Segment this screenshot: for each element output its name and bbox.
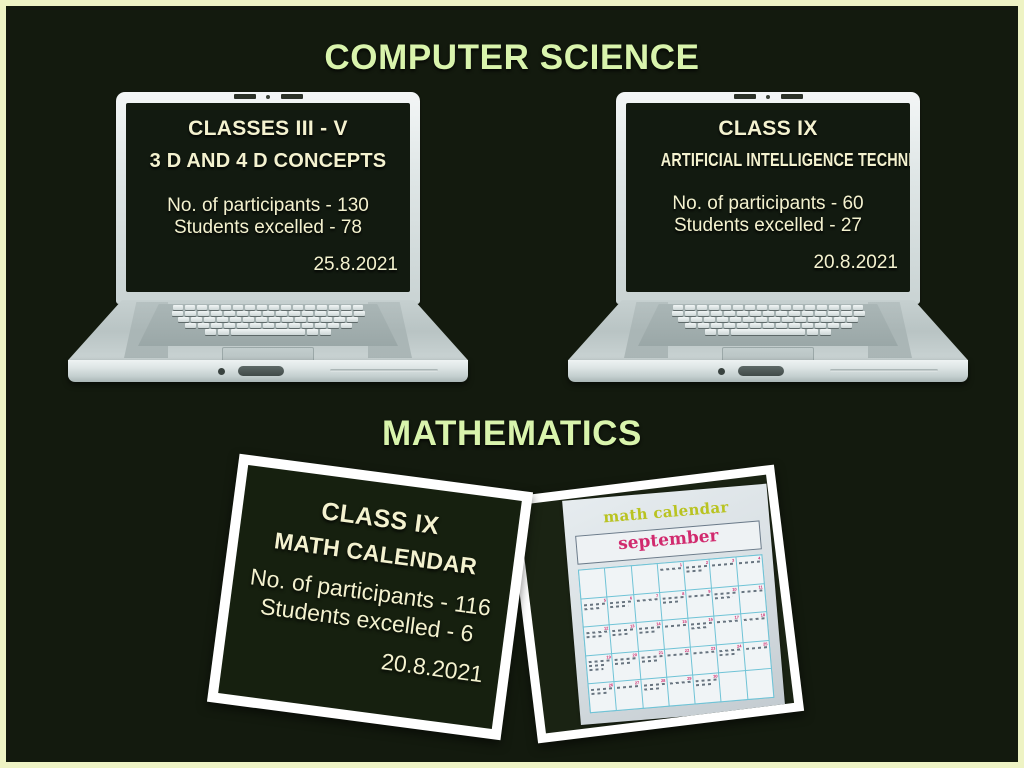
laptop-keyboard — [138, 304, 398, 346]
key — [263, 323, 274, 328]
key — [711, 323, 722, 328]
key — [737, 311, 748, 316]
screen-class-label: CLASS IX — [634, 117, 902, 141]
key — [730, 317, 741, 322]
key — [745, 305, 755, 310]
laptop-base — [68, 300, 468, 392]
key — [789, 323, 800, 328]
screen-participants-count: No. of participants - 130 — [134, 195, 402, 217]
calendar-cell: 25 — [743, 640, 770, 670]
key — [329, 305, 339, 310]
key — [721, 305, 731, 310]
key — [282, 317, 293, 322]
key — [307, 329, 318, 335]
key — [685, 305, 695, 310]
key — [328, 323, 339, 328]
key — [209, 305, 219, 310]
key — [320, 329, 331, 335]
calendar-cell — [719, 671, 746, 701]
keyboard-row — [638, 329, 898, 335]
keyboard-row — [138, 329, 398, 335]
key — [334, 317, 345, 322]
key — [276, 323, 287, 328]
infrared-port-icon — [718, 368, 725, 375]
laptop-front-edge — [568, 360, 968, 382]
key — [717, 317, 728, 322]
key — [315, 311, 326, 316]
key — [257, 305, 267, 310]
key — [173, 305, 183, 310]
laptop-lid: CLASSES III - V 3 D AND 4 D CONCEPTS No.… — [116, 92, 420, 304]
keyboard-row — [138, 311, 398, 316]
key — [217, 317, 228, 322]
spacebar-key — [231, 329, 305, 335]
key — [793, 305, 803, 310]
calendar-cell: 24 — [717, 643, 744, 673]
key — [697, 305, 707, 310]
key — [847, 317, 858, 322]
key — [854, 311, 865, 316]
laptop-screen: CLASSES III - V 3 D AND 4 D CONCEPTS No.… — [126, 103, 410, 292]
key — [769, 317, 780, 322]
keyboard-row — [138, 323, 398, 328]
calendar-grid: 1 2 3 4 5 6 7 8 9 10 11 12 13 14 15 16 — [578, 554, 774, 713]
key — [198, 311, 209, 316]
calendar-cell — [605, 566, 632, 596]
optical-drive-slot — [330, 369, 438, 372]
screen-topic-label: 3 D AND 4 D CONCEPTS — [134, 150, 402, 173]
lid-notch-right-icon — [281, 94, 303, 99]
key — [263, 311, 274, 316]
key — [841, 323, 852, 328]
key — [743, 317, 754, 322]
lid-latch-icon — [238, 366, 284, 376]
key — [178, 317, 189, 322]
calendar-cell: 27 — [615, 680, 642, 710]
key — [295, 317, 306, 322]
keyboard-row — [638, 323, 898, 328]
calendar-sheet: math calendar september 1 2 3 4 5 6 7 8 … — [562, 483, 785, 725]
key — [328, 311, 339, 316]
screen-date: 20.8.2021 — [634, 252, 902, 274]
key — [763, 311, 774, 316]
calendar-cell: 8 — [660, 590, 687, 620]
key — [243, 317, 254, 322]
calendar-cell — [631, 564, 658, 594]
calendar-cell: 30 — [693, 673, 720, 703]
key — [293, 305, 303, 310]
key — [256, 317, 267, 322]
key — [269, 305, 279, 310]
key — [233, 305, 243, 310]
key — [341, 323, 352, 328]
calendar-cell: 11 — [738, 583, 765, 613]
key — [815, 311, 826, 316]
card-inner: CLASS IX MATH CALENDAR No. of participan… — [218, 465, 522, 729]
key — [757, 305, 767, 310]
laptop-keyboard — [638, 304, 898, 346]
key — [672, 311, 683, 316]
infrared-port-icon — [218, 368, 225, 375]
key — [678, 317, 689, 322]
calendar-cell: 7 — [634, 592, 661, 622]
keyboard-row — [138, 317, 398, 322]
key — [269, 317, 280, 322]
calendar-cell — [579, 568, 606, 598]
key — [820, 329, 831, 335]
calendar-cell: 5 — [582, 597, 609, 627]
keyboard-row — [638, 305, 898, 310]
lid-notch-right-icon — [781, 94, 803, 99]
key — [763, 323, 774, 328]
key — [204, 317, 215, 322]
key — [705, 329, 716, 335]
calendar-cell: 19 — [586, 654, 613, 684]
key — [289, 311, 300, 316]
key — [685, 311, 696, 316]
key — [709, 305, 719, 310]
key — [191, 317, 202, 322]
key — [733, 305, 743, 310]
key — [782, 317, 793, 322]
key — [817, 305, 827, 310]
screen-participants-count: No. of participants - 60 — [634, 193, 902, 215]
key — [724, 311, 735, 316]
key — [305, 305, 315, 310]
key — [724, 323, 735, 328]
calendar-cell: 12 — [584, 625, 611, 655]
presentation-slide: COMPUTER SCIENCE CLASSES III - V 3 D AND… — [0, 0, 1024, 768]
calendar-cell: 1 — [658, 561, 685, 591]
key — [802, 323, 813, 328]
key — [211, 323, 222, 328]
screen-class-label: CLASSES III - V — [134, 117, 402, 141]
key — [805, 305, 815, 310]
calendar-cell: 3 — [710, 557, 737, 587]
key — [185, 323, 196, 328]
key — [218, 329, 229, 335]
key — [776, 323, 787, 328]
calendar-cell: 20 — [613, 651, 640, 681]
keyboard-row — [638, 311, 898, 316]
key — [841, 311, 852, 316]
key — [795, 317, 806, 322]
laptop-computer-science-2: CLASS IX ARTIFICIAL INTELLIGENCE TECHNIQ… — [568, 92, 968, 392]
calendar-cell: 4 — [736, 555, 763, 585]
screen-date: 25.8.2021 — [134, 254, 402, 276]
section-title-mathematics: MATHEMATICS — [6, 414, 1018, 454]
key — [321, 317, 332, 322]
photo-inner: math calendar september 1 2 3 4 5 6 7 8 … — [518, 475, 794, 734]
key — [698, 323, 709, 328]
calendar-cell: 9 — [686, 588, 713, 618]
key — [341, 305, 351, 310]
key — [317, 305, 327, 310]
laptop-front-edge — [68, 360, 468, 382]
key — [829, 305, 839, 310]
key — [841, 305, 851, 310]
key — [673, 305, 683, 310]
key — [828, 323, 839, 328]
key — [172, 311, 183, 316]
key — [781, 305, 791, 310]
key — [750, 323, 761, 328]
key — [185, 311, 196, 316]
section-title-computer-science: COMPUTER SCIENCE — [6, 38, 1018, 78]
key — [230, 317, 241, 322]
calendar-cell: 17 — [715, 614, 742, 644]
key — [353, 305, 363, 310]
key — [347, 317, 358, 322]
calendar-cell: 28 — [641, 678, 668, 708]
key — [250, 323, 261, 328]
key — [769, 305, 779, 310]
calendar-cell: 2 — [684, 559, 711, 589]
key — [828, 311, 839, 316]
laptop-lid: CLASS IX ARTIFICIAL INTELLIGENCE TECHNIQ… — [616, 92, 920, 304]
key — [750, 311, 761, 316]
calendar-cell: 26 — [589, 682, 616, 712]
key — [756, 317, 767, 322]
key — [789, 311, 800, 316]
screen-excelled-count: Students excelled - 78 — [134, 217, 402, 239]
key — [224, 323, 235, 328]
key — [302, 311, 313, 316]
key — [711, 311, 722, 316]
key — [281, 305, 291, 310]
key — [776, 311, 787, 316]
key — [821, 317, 832, 322]
key — [685, 323, 696, 328]
key — [315, 323, 326, 328]
key — [221, 305, 231, 310]
key — [691, 317, 702, 322]
key — [802, 311, 813, 316]
key — [197, 305, 207, 310]
lid-notch-left-icon — [234, 94, 256, 99]
key — [853, 305, 863, 310]
key — [834, 317, 845, 322]
key — [815, 323, 826, 328]
laptop-base — [568, 300, 968, 392]
key — [341, 311, 352, 316]
calendar-cell: 6 — [608, 594, 635, 624]
key — [198, 323, 209, 328]
calendar-cell: 22 — [665, 647, 692, 677]
calendar-cell: 29 — [667, 676, 694, 706]
key — [704, 317, 715, 322]
key — [808, 317, 819, 322]
key — [807, 329, 818, 335]
spacebar-key — [731, 329, 805, 335]
key — [308, 317, 319, 322]
calendar-cell: 14 — [636, 621, 663, 651]
key — [237, 323, 248, 328]
key — [737, 323, 748, 328]
math-calendar-info-card: CLASS IX MATH CALENDAR No. of participan… — [207, 454, 533, 740]
math-calendar-photo: math calendar september 1 2 3 4 5 6 7 8 … — [508, 465, 804, 744]
optical-drive-slot — [830, 369, 938, 372]
key — [211, 311, 222, 316]
calendar-cell: 21 — [639, 649, 666, 679]
laptop-computer-science-1: CLASSES III - V 3 D AND 4 D CONCEPTS No.… — [68, 92, 468, 392]
key — [302, 323, 313, 328]
lid-notch-left-icon — [734, 94, 756, 99]
calendar-cell: 18 — [741, 612, 768, 642]
screen-excelled-count: Students excelled - 27 — [634, 215, 902, 237]
keyboard-row — [138, 305, 398, 310]
key — [289, 323, 300, 328]
key — [185, 305, 195, 310]
key — [250, 311, 261, 316]
key — [698, 311, 709, 316]
calendar-cell — [746, 669, 773, 699]
laptop-screen: CLASS IX ARTIFICIAL INTELLIGENCE TECHNIQ… — [626, 103, 910, 292]
calendar-cell: 13 — [610, 623, 637, 653]
lid-latch-icon — [738, 366, 784, 376]
calendar-cell: 23 — [691, 645, 718, 675]
key — [237, 311, 248, 316]
calendar-cell: 10 — [712, 586, 739, 616]
screen-topic-label: ARTIFICIAL INTELLIGENCE TECHNIQUES — [661, 150, 875, 171]
webcam-icon — [266, 95, 270, 99]
key — [276, 311, 287, 316]
key — [224, 311, 235, 316]
webcam-icon — [766, 95, 770, 99]
calendar-cell: 15 — [662, 618, 689, 648]
key — [205, 329, 216, 335]
key — [354, 311, 365, 316]
keyboard-row — [638, 317, 898, 322]
key — [245, 305, 255, 310]
key — [718, 329, 729, 335]
calendar-cell: 16 — [688, 616, 715, 646]
